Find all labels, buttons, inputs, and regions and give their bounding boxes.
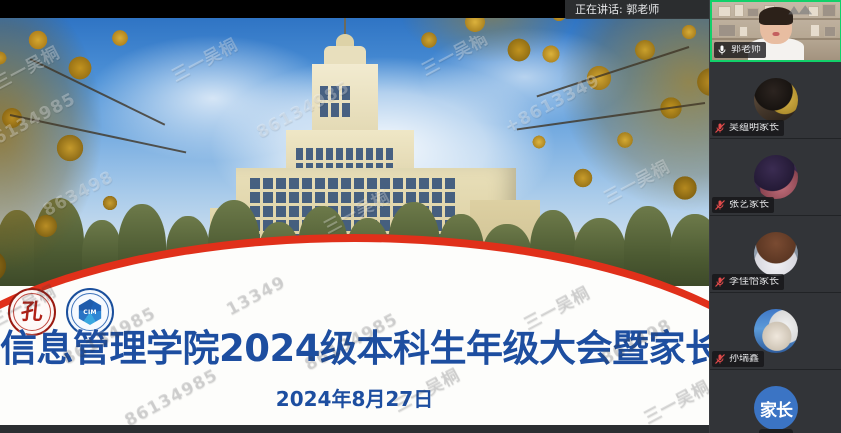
participant-name-badge: 张艺家长 xyxy=(712,197,774,213)
active-speaker-banner: 正在讲话: 郭老师 xyxy=(565,0,709,19)
slide-date: 2024年8月27日 xyxy=(0,383,709,412)
chevron-down-icon[interactable] xyxy=(759,429,793,433)
slide-title: 信息管理学院2024级本科生年级大会暨家长会 xyxy=(0,330,709,368)
tower-cap xyxy=(324,46,366,66)
stage-bottom-bar xyxy=(0,425,709,433)
participant-name: 孙瑞鑫 xyxy=(729,354,759,364)
participant-name: 郭老师 xyxy=(731,45,761,55)
participant-name: 张艺家长 xyxy=(729,200,769,210)
participant-rail[interactable]: 郭老师 吴蕴明家长 xyxy=(709,0,841,433)
active-speaker-text: 正在讲话: 郭老师 xyxy=(575,4,659,15)
participant-name: 吴蕴明家长 xyxy=(729,123,779,133)
participant-tile[interactable]: 李佳怡家长 xyxy=(710,216,841,293)
mic-muted-icon xyxy=(714,276,726,288)
cim-logo-text: CIM xyxy=(83,309,97,316)
participant-name-badge: 吴蕴明家长 xyxy=(712,120,784,136)
corner-watermark-icon xyxy=(787,3,815,16)
presentation-slide: 孔 CIM 信息管理学院2024级本科生年级大会暨家长会 2024年8月27日 … xyxy=(0,18,709,425)
mic-muted-icon xyxy=(714,199,726,211)
participant-avatar xyxy=(754,78,798,122)
overflow-avatar: 家长 xyxy=(754,386,798,430)
shared-screen-stage[interactable]: 孔 CIM 信息管理学院2024级本科生年级大会暨家长会 2024年8月27日 … xyxy=(0,0,709,433)
overflow-avatar-label: 家长 xyxy=(760,396,792,421)
autumn-foliage-top xyxy=(389,18,589,114)
university-seal-glyph: 孔 xyxy=(20,301,44,323)
participant-name-badge: 郭老师 xyxy=(714,42,766,58)
participant-name: 李佳怡家长 xyxy=(729,277,779,287)
participant-tile-active[interactable]: 郭老师 xyxy=(710,0,841,62)
mic-muted-icon xyxy=(714,353,726,365)
participant-avatar xyxy=(754,309,798,353)
participant-tile[interactable]: 张艺家长 xyxy=(710,139,841,216)
clock-tower xyxy=(312,64,378,138)
participant-name-badge: 李佳怡家长 xyxy=(712,274,784,290)
participant-tile[interactable]: 孙瑞鑫 xyxy=(710,293,841,370)
participant-overflow-tile[interactable]: 家长 xyxy=(710,370,841,433)
participant-avatar xyxy=(754,155,798,199)
mic-muted-icon xyxy=(714,122,726,134)
participant-tile[interactable]: 吴蕴明家长 xyxy=(710,62,841,139)
participant-avatar xyxy=(754,232,798,276)
participant-name-badge: 孙瑞鑫 xyxy=(712,351,764,367)
video-conference-window: 孔 CIM 信息管理学院2024级本科生年级大会暨家长会 2024年8月27日 … xyxy=(0,0,841,433)
slide-caption-area: 孔 CIM 信息管理学院2024级本科生年级大会暨家长会 2024年8月27日 xyxy=(0,280,709,425)
mic-on-icon xyxy=(716,44,728,56)
